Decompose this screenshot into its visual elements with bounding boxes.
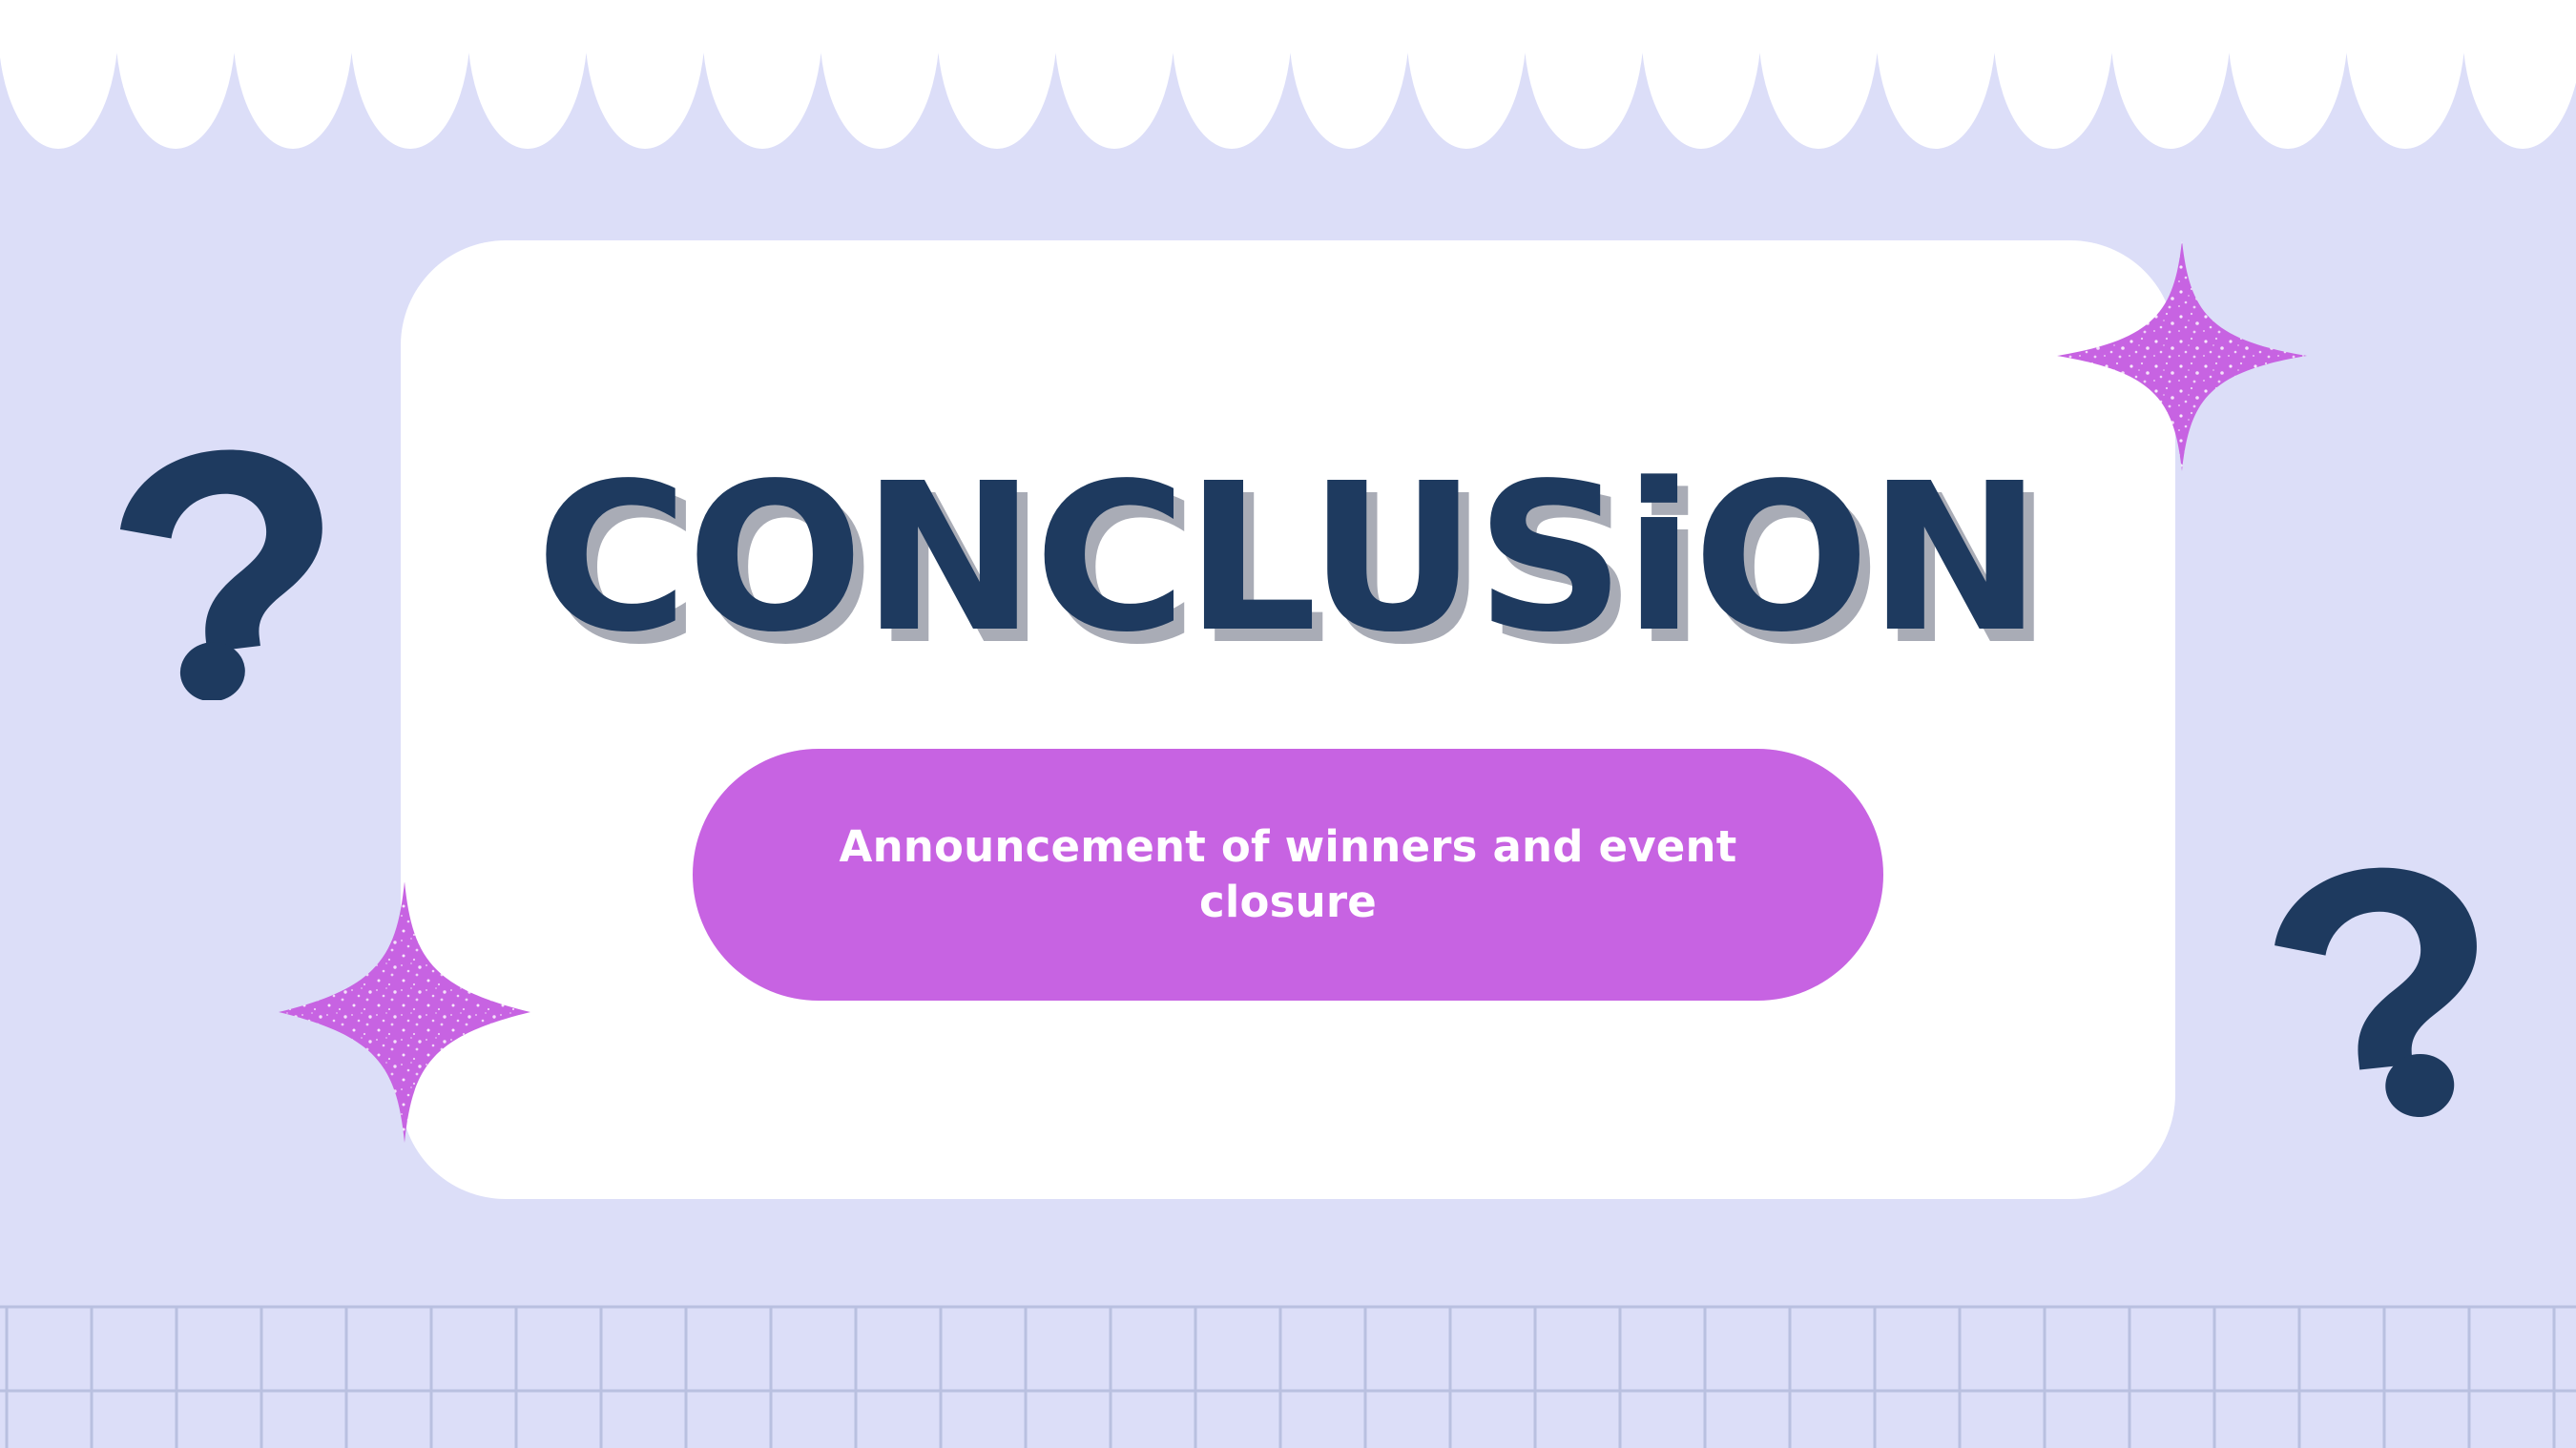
page-title: CONCLUSiON [383, 465, 2192, 653]
bottom-grid-pattern [0, 1295, 2576, 1448]
content-card: CONCLUSiON Announcement of winners and e… [401, 240, 2175, 1199]
subtitle-pill[interactable]: Announcement of winners and event closur… [693, 749, 1883, 1001]
question-mark-icon-right [2269, 858, 2488, 1129]
question-mark-icon-left [114, 441, 334, 700]
scallop-top-border [0, 0, 2576, 162]
slide-canvas: CONCLUSiON Announcement of winners and e… [0, 0, 2576, 1448]
subtitle-text: Announcement of winners and event closur… [759, 819, 1817, 931]
